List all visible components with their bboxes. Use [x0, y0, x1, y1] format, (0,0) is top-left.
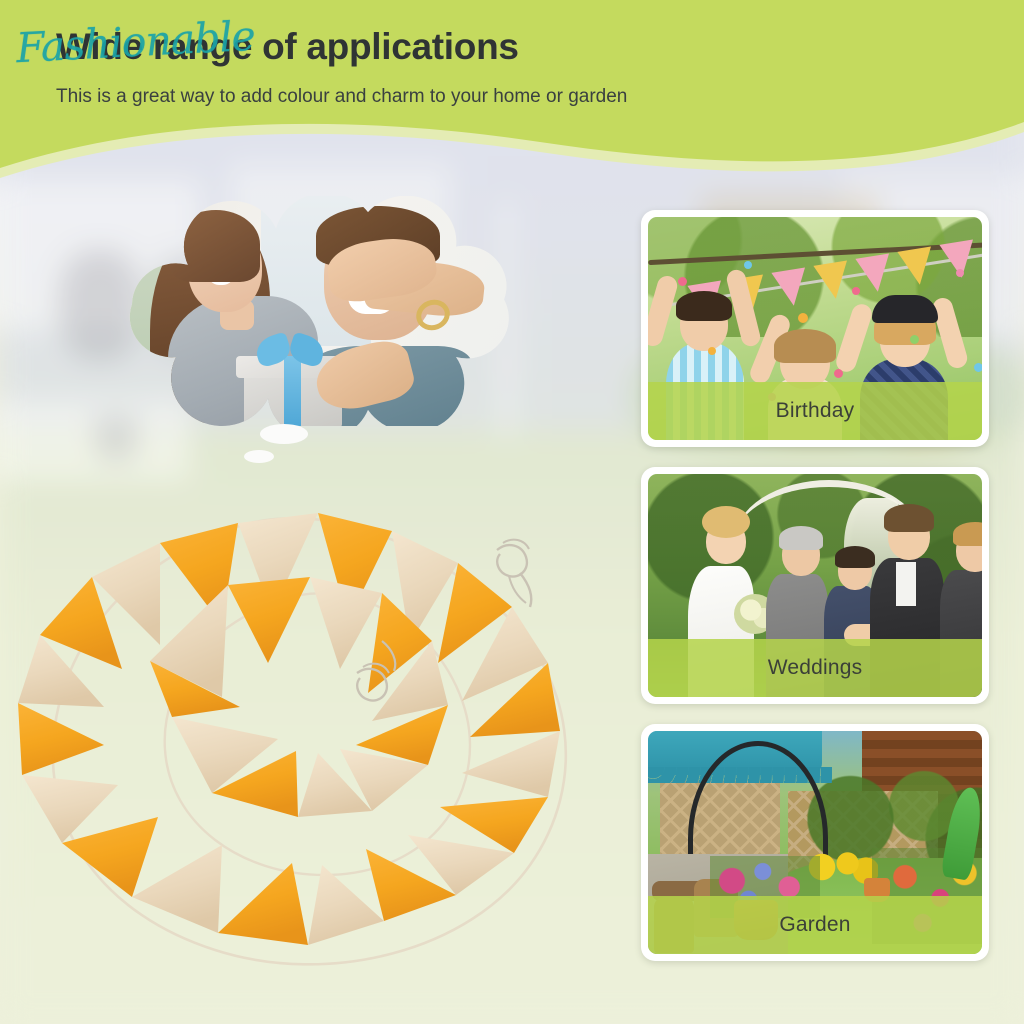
woman-hair-front — [168, 210, 260, 282]
child-2-hair — [774, 329, 836, 363]
card-caption-weddings: Weddings — [648, 639, 982, 697]
garden-patio-photo: Garden — [648, 731, 982, 954]
confetti-6 — [956, 269, 964, 277]
application-card-weddings[interactable]: Weddings — [641, 467, 989, 704]
bunting-pennant-garland — [0, 445, 630, 1005]
confetti-7 — [708, 347, 716, 355]
outdoor-wedding-ceremony-photo: Weddings — [648, 474, 982, 697]
pennant-inner-ring — [150, 577, 448, 817]
confetti-4 — [852, 287, 860, 295]
poster-canvas: Wide range of applications This is a gre… — [0, 0, 1024, 1024]
bride-hair-bun — [702, 506, 750, 538]
thought-bubble — [116, 196, 516, 426]
birthday-flag-5 — [855, 254, 894, 295]
application-card-garden[interactable]: Garden — [641, 724, 989, 961]
child-3-hat — [872, 295, 938, 323]
officiant-hair — [779, 526, 823, 550]
birthday-flag-6 — [897, 247, 936, 288]
birthday-flag-4 — [813, 261, 852, 302]
groom-hair — [884, 504, 934, 532]
confetti-1 — [678, 277, 687, 286]
card-label-garden: Garden — [779, 913, 850, 937]
children-birthday-party-photo: Birthday — [648, 217, 982, 440]
child-1-hair — [676, 291, 732, 321]
confetti-9 — [974, 363, 982, 372]
card-label-weddings: Weddings — [768, 656, 863, 680]
page-subtitle: This is a great way to add colour and ch… — [56, 86, 627, 108]
pennant-outer-ring — [18, 513, 560, 945]
confetti-3 — [798, 313, 808, 323]
confetti-8 — [834, 369, 843, 378]
confetti-5 — [910, 335, 919, 344]
card-caption-garden: Garden — [648, 896, 982, 954]
groom-shirt — [896, 562, 916, 606]
confetti-2 — [744, 261, 752, 269]
cord-tie-right — [497, 540, 531, 607]
card-label-birthday: Birthday — [776, 399, 855, 423]
card-caption-birthday: Birthday — [648, 382, 982, 440]
gift-surprise-photo — [116, 196, 516, 426]
application-card-birthday[interactable]: Birthday — [641, 210, 989, 447]
best-man-hair — [953, 522, 982, 546]
gift-ribbon — [284, 356, 301, 426]
guest-hair — [835, 546, 875, 568]
birthday-flag-3 — [771, 268, 810, 309]
thought-bubble-dot-large — [260, 424, 308, 444]
